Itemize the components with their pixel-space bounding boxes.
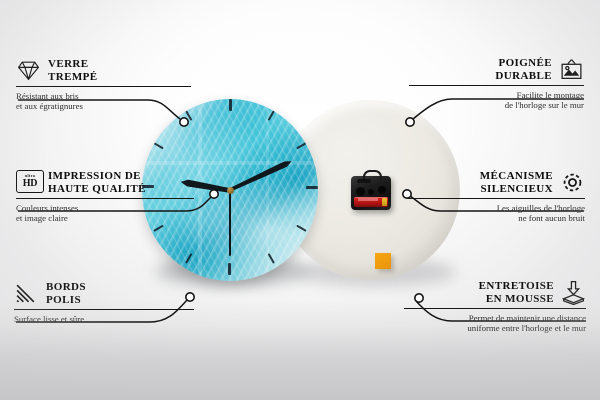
- product-feature-infographic: VERRE TREMPÉ Résistant aux bris et aux é…: [0, 0, 600, 400]
- vignette-overlay: [0, 0, 600, 400]
